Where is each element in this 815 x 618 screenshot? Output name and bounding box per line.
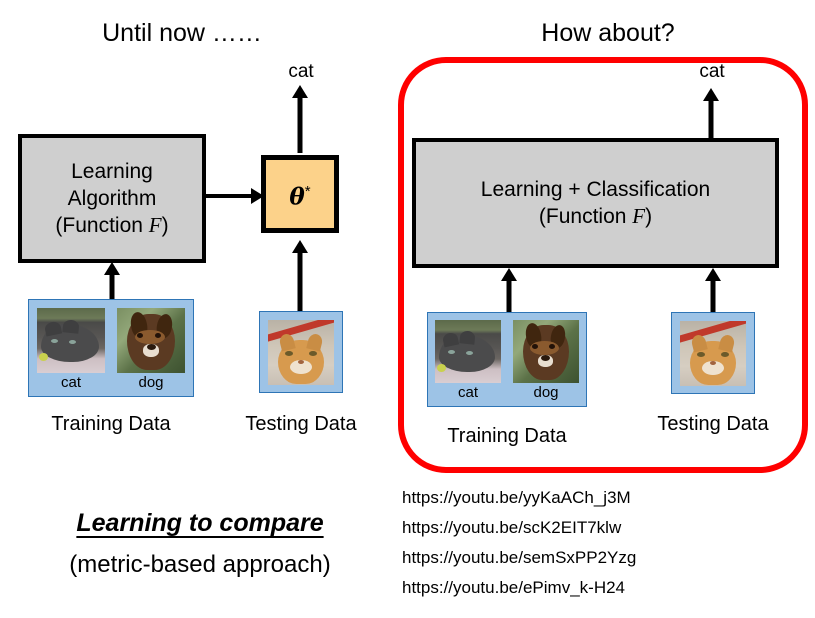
learning-classification-line-2: (Function F) [481, 203, 710, 230]
function-symbol: F [632, 204, 645, 228]
right-training-data-caption: Training Data [414, 424, 600, 448]
function-suffix: ) [645, 205, 652, 228]
learning-algorithm-line-3: (Function F) [55, 212, 168, 239]
learning-algorithm-line-1: Learning [55, 158, 168, 185]
footer-link-4[interactable]: https://youtu.be/ePimv_k-H24 [402, 573, 732, 603]
learning-algorithm-box: Learning Algorithm (Function F) [18, 134, 206, 263]
left-testing-data-caption: Testing Data [226, 412, 376, 436]
theta-superscript: * [305, 183, 311, 200]
training-thumb-cat-label: cat [37, 375, 105, 391]
left-testing-data-panel [259, 311, 343, 393]
left-output-label: cat [268, 62, 334, 82]
arrow-shaft [205, 194, 255, 198]
right-testing-to-box-arrow [700, 268, 726, 316]
training-thumb-cat [435, 320, 501, 383]
training-thumb-dog-label: dog [117, 375, 185, 391]
footer-link-3[interactable]: https://youtu.be/semSxPP2Yzg [402, 543, 732, 573]
function-prefix: (Function [539, 205, 632, 228]
training-thumb-dog [117, 308, 185, 373]
left-testing-to-theta-arrow [287, 240, 313, 312]
function-prefix: (Function [55, 214, 148, 237]
footer-link-1[interactable]: https://youtu.be/yyKaACh_j3M [402, 483, 732, 513]
training-thumb-cat [37, 308, 105, 373]
right-panel-title: How about? [508, 18, 708, 48]
theta-symbol: θ [289, 183, 304, 210]
theta-star-box: θ* [261, 155, 339, 233]
testing-thumb-cat [268, 320, 334, 385]
footer-subheading: (metric-based approach) [30, 550, 370, 580]
left-panel-title: Until now …… [82, 18, 282, 48]
right-training-data-panel: cat dog [427, 312, 587, 407]
right-output-label: cat [679, 62, 745, 82]
theta-star-label: θ* [289, 180, 310, 209]
arrow-shaft [298, 91, 303, 153]
testing-thumb-cat [680, 321, 746, 386]
right-box-to-output-arrow [698, 88, 724, 138]
learning-classification-box: Learning + Classification (Function F) [412, 138, 779, 268]
right-training-to-box-arrow [496, 268, 522, 316]
algorithm-to-theta-arrow [205, 188, 264, 204]
right-testing-data-caption: Testing Data [638, 412, 788, 436]
training-thumb-dog-label: dog [513, 385, 579, 401]
footer-link-2[interactable]: https://youtu.be/scK2EIT7klw [402, 513, 732, 543]
training-thumb-dog [513, 320, 579, 383]
left-training-data-panel: cat dog [28, 299, 194, 397]
learning-classification-line-1: Learning + Classification [481, 176, 710, 203]
footer-links: https://youtu.be/yyKaACh_j3M https://you… [402, 483, 732, 603]
arrow-shaft [709, 94, 714, 138]
left-theta-to-output-arrow [287, 85, 313, 153]
training-thumb-cat-label: cat [435, 385, 501, 401]
arrow-shaft [298, 246, 303, 312]
footer-heading: Learning to compare [30, 508, 370, 538]
left-training-data-caption: Training Data [18, 412, 204, 436]
learning-algorithm-box-text: Learning Algorithm (Function F) [55, 158, 168, 239]
right-testing-data-panel [671, 312, 755, 394]
function-suffix: ) [162, 214, 169, 237]
function-symbol: F [149, 213, 162, 237]
learning-classification-box-text: Learning + Classification (Function F) [481, 176, 710, 230]
arrow-shaft [507, 274, 512, 316]
learning-algorithm-line-2: Algorithm [55, 185, 168, 212]
arrow-shaft [711, 274, 716, 316]
